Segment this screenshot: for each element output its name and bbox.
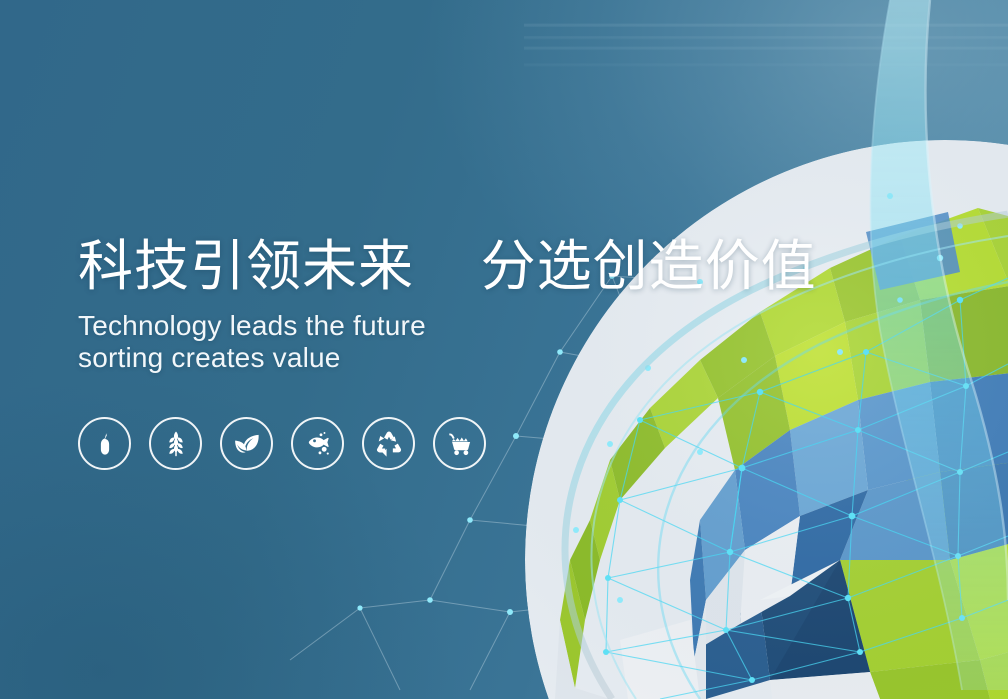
icon-badge-mining-cart[interactable]	[433, 417, 486, 470]
subtitle-line-2: sorting creates value	[78, 342, 817, 374]
headline-part-1: 科技引领未来	[78, 235, 414, 297]
icon-badge-fish[interactable]	[291, 417, 344, 470]
icon-badge-tea-leaf[interactable]	[220, 417, 273, 470]
mining-cart-icon	[445, 429, 475, 459]
tea-leaf-icon	[232, 429, 262, 459]
recycle-icon	[374, 429, 404, 459]
wheat-ear-icon	[161, 429, 191, 459]
icon-badge-wheat[interactable]	[149, 417, 202, 470]
industry-icon-row	[78, 417, 486, 470]
subtitle: Technology leads the future sorting crea…	[78, 310, 817, 375]
page-title: 科技引领未来 分选创造价值	[78, 238, 817, 296]
icon-badge-grain[interactable]	[78, 417, 131, 470]
grain-kernel-icon	[90, 429, 120, 459]
headline-part-2: 分选创造价值	[481, 235, 817, 297]
hero-copy: 科技引领未来 分选创造价值 Technology leads the futur…	[78, 238, 817, 375]
fish-icon	[303, 429, 333, 459]
icon-badge-recycle[interactable]	[362, 417, 415, 470]
hero-banner: 科技引领未来 分选创造价值 Technology leads the futur…	[0, 0, 1008, 699]
subtitle-line-1: Technology leads the future	[78, 310, 426, 341]
